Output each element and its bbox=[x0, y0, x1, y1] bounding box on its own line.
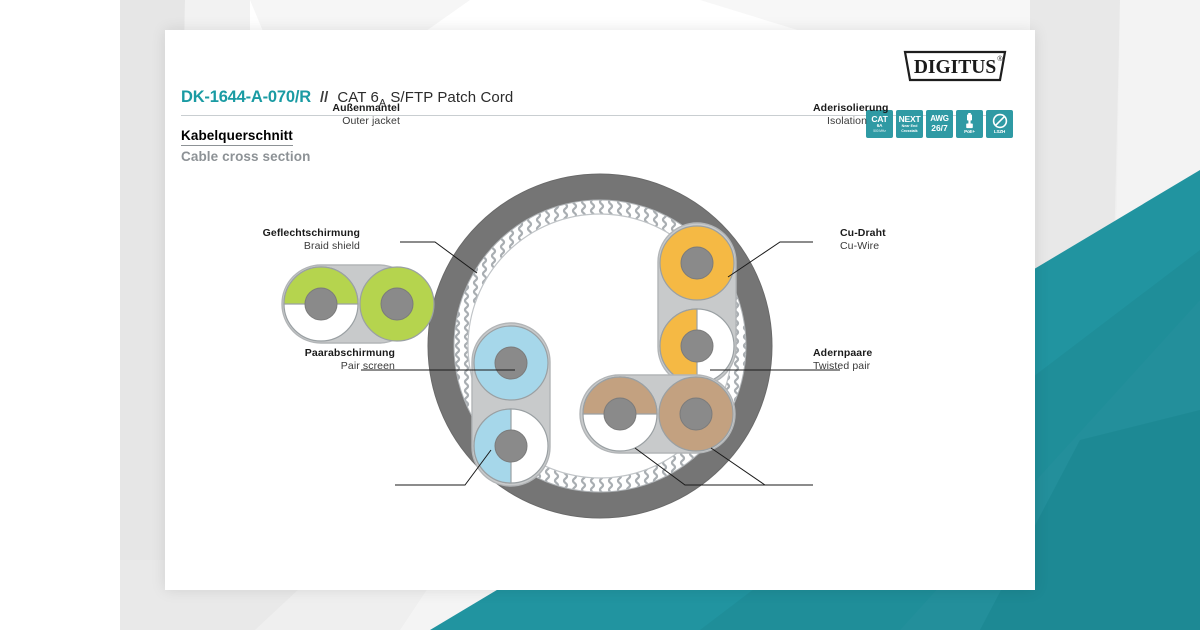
digitus-logo: DIGITUS ® bbox=[901, 46, 1013, 86]
copper-core bbox=[495, 347, 527, 379]
cat6a-badge-line3: 500 MHz bbox=[873, 130, 886, 133]
callout-braid-shield: Geflechtschirmung Braid shield bbox=[185, 227, 360, 253]
copper-core bbox=[305, 288, 337, 320]
callout-isolation-en: Isolation bbox=[813, 115, 1023, 128]
callout-braid-shield-en: Braid shield bbox=[185, 240, 360, 253]
copper-core bbox=[680, 398, 712, 430]
callout-outer-jacket: Außenmantel Outer jacket bbox=[185, 102, 400, 128]
blue-wire-solid bbox=[474, 326, 548, 400]
copper-core bbox=[495, 430, 527, 462]
callout-isolation: Aderisolierung Isolation bbox=[813, 102, 1023, 128]
copper-core bbox=[681, 330, 713, 362]
callout-pair-screen-de: Paarabschirmung bbox=[185, 347, 395, 360]
green-wire-striped bbox=[284, 267, 358, 341]
lszh-badge-label: LSZH bbox=[994, 130, 1005, 135]
orange-wire-striped bbox=[660, 309, 734, 383]
orange-wire-solid bbox=[660, 226, 734, 300]
green-pair bbox=[282, 265, 434, 343]
brown-wire-striped bbox=[583, 377, 657, 451]
callout-cu-wire: Cu-Draht Cu-Wire bbox=[840, 227, 1020, 253]
poe-badge-label: PoE+ bbox=[964, 130, 975, 135]
copper-core bbox=[681, 247, 713, 279]
product-name-post: S/FTP Patch Cord bbox=[386, 89, 513, 106]
orange-pair bbox=[658, 223, 736, 386]
blue-wire-striped bbox=[474, 409, 548, 483]
callout-twisted-pair-de: Adernpaare bbox=[813, 347, 1013, 360]
document-card: DIGITUS ® DK-1644-A-070/R // CAT 6A S/FT… bbox=[165, 30, 1035, 590]
callout-isolation-de: Aderisolierung bbox=[813, 102, 1023, 115]
brown-wire-solid bbox=[659, 377, 733, 451]
copper-core bbox=[381, 288, 413, 320]
callout-cu-wire-de: Cu-Draht bbox=[840, 227, 1020, 240]
callout-twisted-pair: Adernpaare Twisted pair bbox=[813, 347, 1013, 373]
callout-cu-wire-en: Cu-Wire bbox=[840, 240, 1020, 253]
callout-braid-shield-de: Geflechtschirmung bbox=[185, 227, 360, 240]
registered-mark: ® bbox=[997, 55, 1003, 63]
callout-outer-jacket-en: Outer jacket bbox=[185, 115, 400, 128]
callout-pair-screen-en: Pair screen bbox=[185, 360, 395, 373]
brown-pair bbox=[580, 375, 735, 453]
section-heading: Kabelquerschnitt Cable cross section bbox=[181, 127, 310, 164]
copper-core bbox=[604, 398, 636, 430]
callout-twisted-pair-en: Twisted pair bbox=[813, 360, 1013, 373]
section-title-de: Kabelquerschnitt bbox=[181, 128, 293, 146]
callout-pair-screen: Paarabschirmung Pair screen bbox=[185, 347, 395, 373]
blue-pair bbox=[472, 323, 550, 486]
green-wire-solid bbox=[360, 267, 434, 341]
callout-outer-jacket-de: Außenmantel bbox=[185, 102, 400, 115]
digitus-logo-text: DIGITUS bbox=[914, 57, 997, 78]
